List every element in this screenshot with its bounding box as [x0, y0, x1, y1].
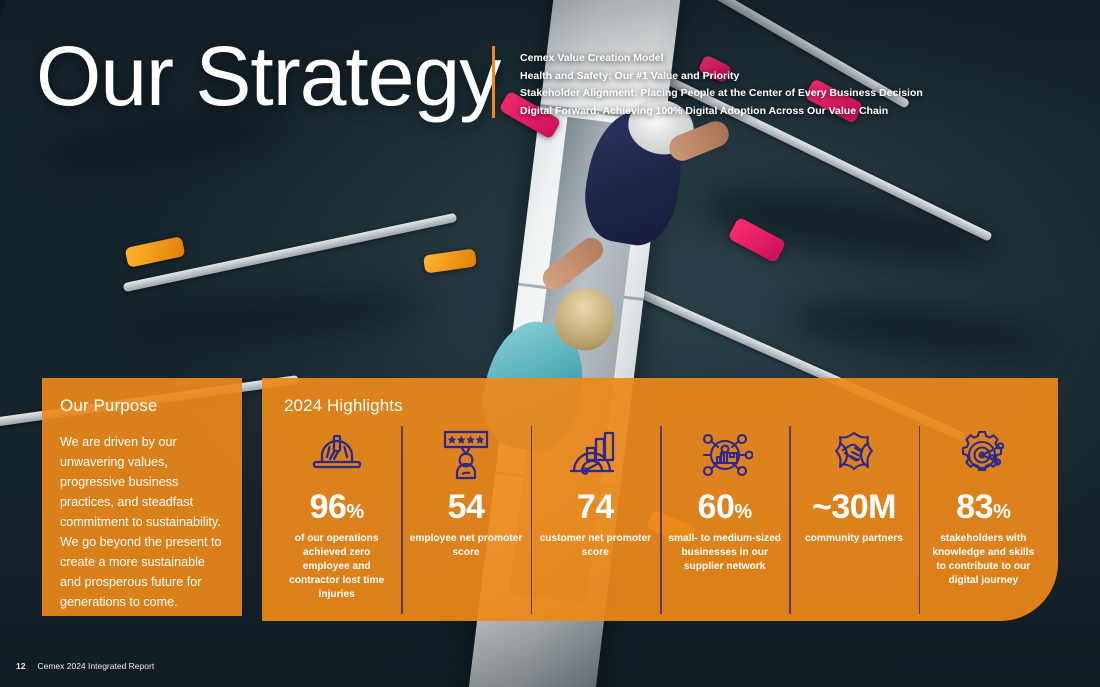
hard-hat-icon	[310, 426, 364, 484]
stat-value: 54	[448, 490, 485, 524]
stat-label: small- to medium-sized businesses in our…	[668, 532, 781, 574]
report-page: Our Strategy Cemex Value Creation Model …	[0, 0, 1100, 687]
handshake-icon	[827, 426, 881, 484]
digital-gear-icon	[955, 426, 1011, 484]
supplier-network-icon	[697, 426, 753, 484]
gauge-chart-icon	[567, 426, 623, 484]
stat-value: ~30M	[812, 490, 896, 524]
header-line-3: Stakeholder Alignment: Placing People at…	[520, 85, 940, 103]
stat-value: 74	[577, 490, 614, 524]
stat-label: employee net promoter score	[409, 532, 522, 560]
stat-card-supplier-network: 60% small- to medium-sized businesses in…	[660, 422, 789, 608]
footer-report-title: Cemex 2024 Integrated Report	[37, 661, 154, 671]
stat-value: 60%	[698, 490, 752, 524]
our-purpose-panel: Our Purpose We are driven by our unwaver…	[42, 378, 242, 616]
stat-suffix: %	[734, 501, 751, 523]
our-purpose-heading: Our Purpose	[60, 396, 222, 416]
stat-label: community partners	[805, 532, 903, 546]
highlights-heading: 2024 Highlights	[284, 396, 1058, 416]
stat-card-employee-nps: 54 employee net promoter score	[401, 422, 530, 608]
stat-value: 83%	[956, 490, 1010, 524]
stat-label: of our operations achieved zero employee…	[280, 532, 393, 602]
highlights-panel: 2024 Highlights 96% of our operations ac…	[262, 378, 1058, 621]
our-purpose-body: We are driven by our unwavering values, …	[60, 432, 222, 612]
stat-label: customer net promoter score	[539, 532, 652, 560]
stat-card-community-partners: ~30M community partners	[789, 422, 918, 608]
footer-page-number: 12	[16, 661, 25, 671]
header-line-2: Health and Safety: Our #1 Value and Prio…	[520, 68, 940, 86]
page-footer: 12 Cemex 2024 Integrated Report	[16, 661, 154, 671]
stat-card-customer-nps: 74 customer net promoter score	[531, 422, 660, 608]
stat-card-digital-journey: 83% stakeholders with knowledge and skil…	[919, 422, 1048, 608]
stat-suffix: %	[346, 501, 363, 523]
page-title: Our Strategy	[36, 34, 500, 118]
highlights-stat-list: 96% of our operations achieved zero empl…	[262, 422, 1058, 608]
stat-card-safety: 96% of our operations achieved zero empl…	[272, 422, 401, 608]
header-line-4: Digital Forward: Achieving 100% Digital …	[520, 103, 940, 121]
header-line-1: Cemex Value Creation Model	[520, 50, 940, 68]
title-divider-rule	[492, 46, 495, 118]
value-creation-model-list: Cemex Value Creation Model Health and Sa…	[520, 50, 940, 120]
stat-suffix: %	[993, 501, 1010, 523]
stat-label: stakeholders with knowledge and skills t…	[927, 532, 1040, 588]
employee-rating-icon	[439, 426, 493, 484]
stat-value: 96%	[310, 490, 364, 524]
